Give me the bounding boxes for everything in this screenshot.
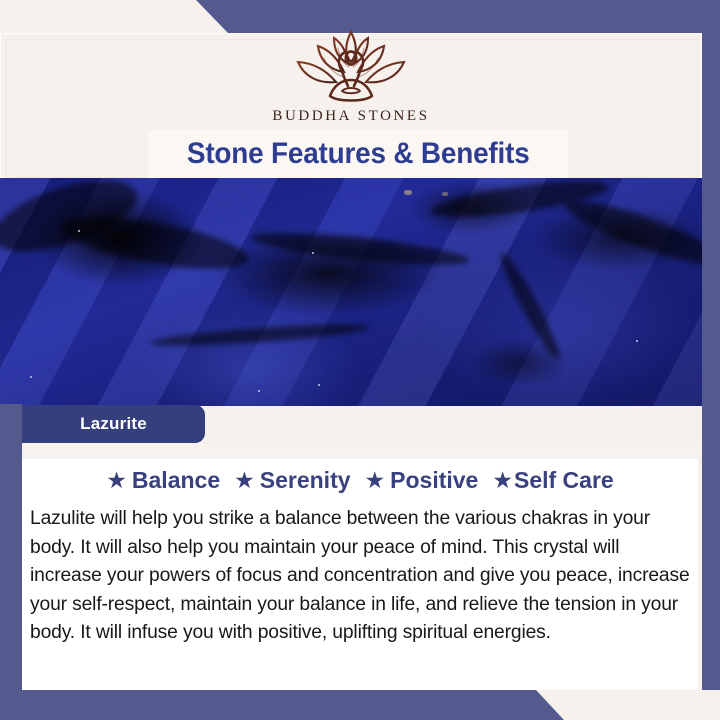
stone-description: Lazulite will help you strike a balance … bbox=[30, 505, 692, 648]
benefit-label: Serenity bbox=[260, 467, 351, 494]
benefit-label: Self Care bbox=[514, 467, 614, 494]
brand-logo: BUDDHA STONES bbox=[0, 28, 702, 125]
benefit-label: Balance bbox=[132, 467, 220, 494]
star-icon: ★ bbox=[492, 469, 513, 492]
stone-name-badge: Lazurite bbox=[22, 405, 205, 443]
page-title: Stone Features & Benefits bbox=[187, 137, 530, 171]
benefit-item-self-care: ★ Self Care bbox=[492, 467, 613, 494]
content-card: ★ Balance ★ Serenity ★ Positive ★ Self C… bbox=[22, 443, 698, 690]
star-icon: ★ bbox=[106, 469, 127, 492]
bottom-accent-band bbox=[0, 690, 720, 720]
left-accent-rail bbox=[0, 404, 22, 690]
stone-name-text: Lazurite bbox=[80, 414, 147, 434]
title-plaque: Stone Features & Benefits bbox=[148, 130, 568, 178]
brand-name: BUDDHA STONES bbox=[272, 108, 429, 125]
benefit-item-serenity: ★ Serenity bbox=[234, 467, 350, 494]
benefit-item-balance: ★ Balance bbox=[106, 467, 220, 494]
benefits-row: ★ Balance ★ Serenity ★ Positive ★ Self C… bbox=[22, 467, 698, 494]
card-top-strip bbox=[22, 443, 698, 459]
right-accent-rail bbox=[702, 0, 720, 690]
star-icon: ★ bbox=[365, 469, 386, 492]
stone-photo bbox=[0, 178, 720, 406]
infographic-page: BUDDHA STONES Stone Features & Benefits … bbox=[0, 0, 720, 720]
benefit-label: Positive bbox=[390, 467, 478, 494]
benefit-item-positive: ★ Positive bbox=[365, 467, 479, 494]
star-icon: ★ bbox=[234, 469, 255, 492]
lotus-meditation-icon bbox=[276, 28, 426, 106]
